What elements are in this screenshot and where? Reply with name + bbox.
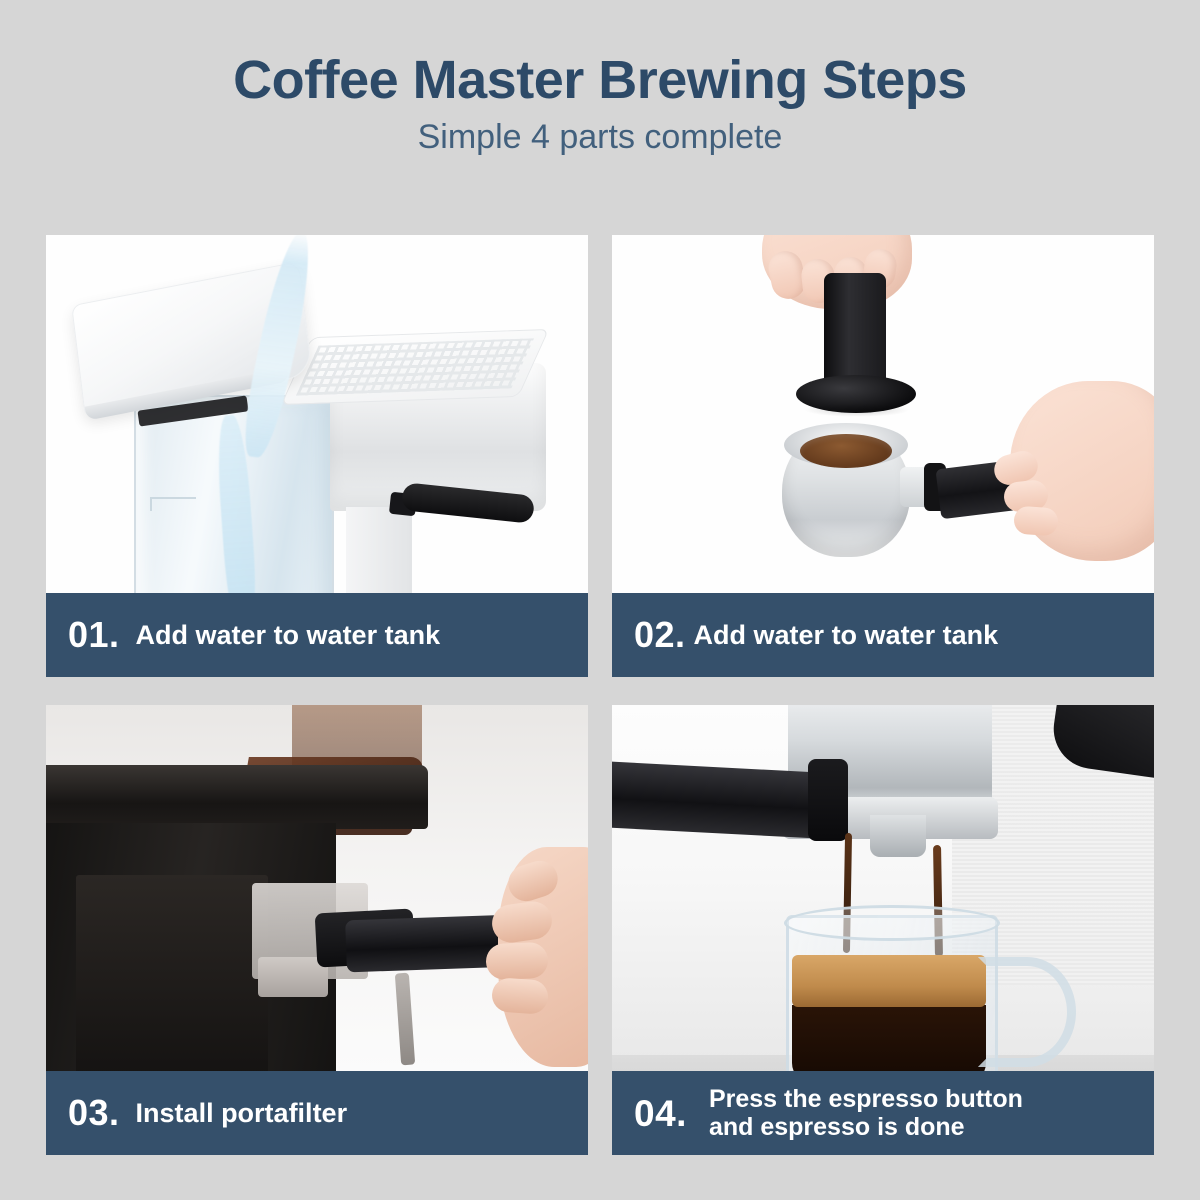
step-03-caption: 03. Install portafilter — [46, 1071, 588, 1155]
step-04-label: Press the espresso buttonand espresso is… — [709, 1085, 1023, 1141]
step-04-caption: 04. Press the espresso buttonand espress… — [612, 1071, 1154, 1155]
step-02-label: Add water to water tank — [694, 620, 999, 650]
header: Coffee Master Brewing Steps Simple 4 par… — [0, 0, 1200, 156]
tamper-handle-icon — [824, 273, 886, 385]
coffee-liquid-icon — [792, 1005, 986, 1071]
infographic-page: Coffee Master Brewing Steps Simple 4 par… — [0, 0, 1200, 1200]
machine-top-icon — [46, 765, 428, 829]
steps-grid: 01. Add water to water tank — [46, 235, 1154, 1155]
step-01-number: 01. — [68, 617, 120, 653]
page-title: Coffee Master Brewing Steps — [0, 52, 1200, 109]
portafilter-spout-icon — [870, 815, 926, 857]
step-02-number: 02. — [634, 617, 686, 653]
step-04-number: 04. — [634, 1095, 687, 1132]
machine-panel-icon — [76, 875, 268, 1071]
step-01-caption: 01. Add water to water tank — [46, 593, 588, 677]
cup-handle-icon — [978, 957, 1076, 1067]
step-card-01[interactable]: 01. Add water to water tank — [46, 235, 588, 677]
cup-rim-icon — [784, 905, 1000, 941]
step-03-number: 03. — [68, 1095, 120, 1131]
machine-stand-icon — [346, 507, 412, 593]
finger-icon — [485, 942, 548, 980]
step-03-image — [46, 705, 588, 1071]
tray-mesh-icon — [296, 338, 534, 395]
crema-icon — [792, 955, 986, 1007]
finger-icon — [1013, 505, 1059, 536]
step-04-label-line2: and espresso is done — [709, 1113, 965, 1141]
page-subtitle: Simple 4 parts complete — [0, 119, 1200, 156]
step-04-label-line1: Press the espresso button — [709, 1085, 1023, 1113]
cup-warming-tray-icon — [281, 329, 550, 405]
portafilter-collar-icon — [808, 759, 848, 841]
coffee-grounds-icon — [800, 434, 892, 468]
step-04-image — [612, 705, 1154, 1071]
step-01-image — [46, 235, 588, 593]
step-card-03[interactable]: 03. Install portafilter — [46, 705, 588, 1155]
tamper-shadow-icon — [804, 403, 910, 417]
step-02-image — [612, 235, 1154, 593]
step-03-label: Install portafilter — [136, 1098, 348, 1128]
portafilter-handle-icon — [612, 761, 836, 840]
step-02-caption: 02. Add water to water tank — [612, 593, 1154, 677]
step-01-label: Add water to water tank — [136, 620, 441, 650]
step-card-04[interactable]: 04. Press the espresso buttonand espress… — [612, 705, 1154, 1155]
finger-icon — [491, 977, 549, 1015]
step-card-02[interactable]: 02. Add water to water tank — [612, 235, 1154, 677]
